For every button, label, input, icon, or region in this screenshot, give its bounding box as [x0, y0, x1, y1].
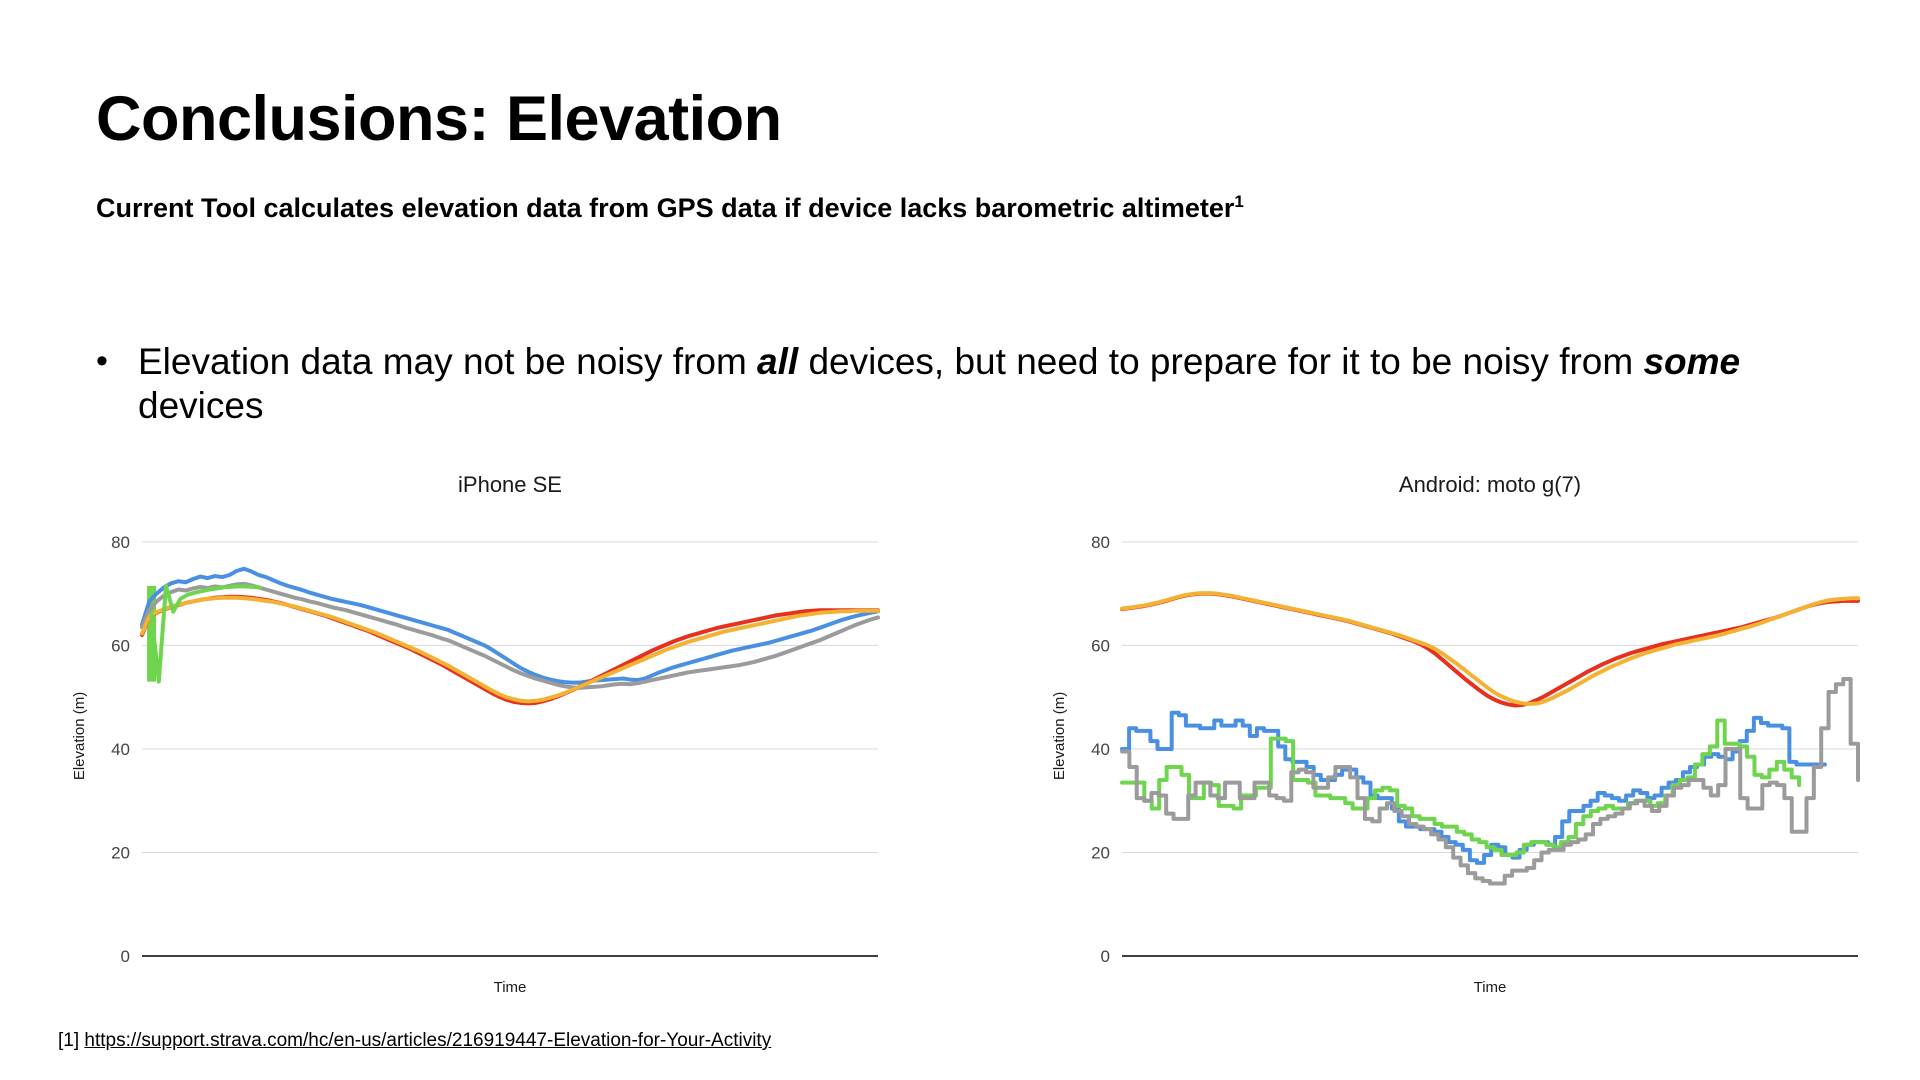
y-axis-tick-label: 80 [111, 533, 130, 552]
chart-title: Android: moto g(7) [1399, 472, 1581, 497]
bullet-text-part-a: Elevation data may not be noisy from [138, 341, 757, 382]
y-axis-title: Elevation (m) [71, 692, 88, 780]
chart-iphone-se-svg: iPhone SE020406080Elevation (m)Time [60, 470, 900, 1030]
page-subtitle-text: Current Tool calculates elevation data f… [96, 193, 1234, 223]
bullet-item-text: Elevation data may not be noisy from all… [138, 340, 1856, 427]
footnote-prefix: [1] [58, 1030, 84, 1051]
y-axis-tick-label: 20 [1091, 843, 1110, 862]
chart-iphone-se: iPhone SE020406080Elevation (m)Time [60, 470, 900, 1030]
y-axis-tick-label: 20 [111, 843, 130, 862]
bullet-emphasis-all: all [757, 341, 798, 382]
chart-title: iPhone SE [458, 472, 562, 497]
series-line-yellow [1122, 593, 1858, 704]
page-title: Conclusions: Elevation [96, 86, 782, 152]
series-line-red [142, 597, 878, 704]
bullet-text-part-c: devices [138, 385, 263, 426]
y-axis-title: Elevation (m) [1051, 692, 1068, 780]
slide-canvas: Conclusions: Elevation Current Tool calc… [0, 0, 1920, 1080]
bullet-dot-icon: • [96, 340, 138, 384]
y-axis-tick-label: 60 [1091, 636, 1110, 655]
y-axis-tick-label: 0 [121, 947, 130, 966]
footnote: [1] https://support.strava.com/hc/en-us/… [58, 1030, 771, 1052]
y-axis-tick-label: 0 [1101, 947, 1110, 966]
bullet-emphasis-some: some [1643, 341, 1740, 382]
y-axis-tick-label: 60 [111, 636, 130, 655]
list-item: • Elevation data may not be noisy from a… [96, 340, 1856, 427]
y-axis-tick-label: 40 [111, 740, 130, 759]
charts-row: iPhone SE020406080Elevation (m)Time Andr… [0, 470, 1920, 1030]
y-axis-tick-label: 40 [1091, 740, 1110, 759]
series-line-yellow [142, 598, 878, 702]
chart-android-moto-g7-svg: Android: moto g(7)020406080Elevation (m)… [1040, 470, 1880, 1030]
footnote-marker: 1 [1234, 192, 1243, 211]
x-axis-title: Time [1474, 979, 1507, 996]
page-subtitle: Current Tool calculates elevation data f… [96, 192, 1244, 224]
bullet-list: • Elevation data may not be noisy from a… [96, 340, 1856, 427]
bullet-text-part-b: devices, but need to prepare for it to b… [798, 341, 1643, 382]
y-axis-tick-label: 80 [1091, 533, 1110, 552]
x-axis-title: Time [494, 979, 527, 996]
strava-elevation-link[interactable]: https://support.strava.com/hc/en-us/arti… [84, 1030, 771, 1051]
chart-android-moto-g7: Android: moto g(7)020406080Elevation (m)… [1040, 470, 1880, 1030]
